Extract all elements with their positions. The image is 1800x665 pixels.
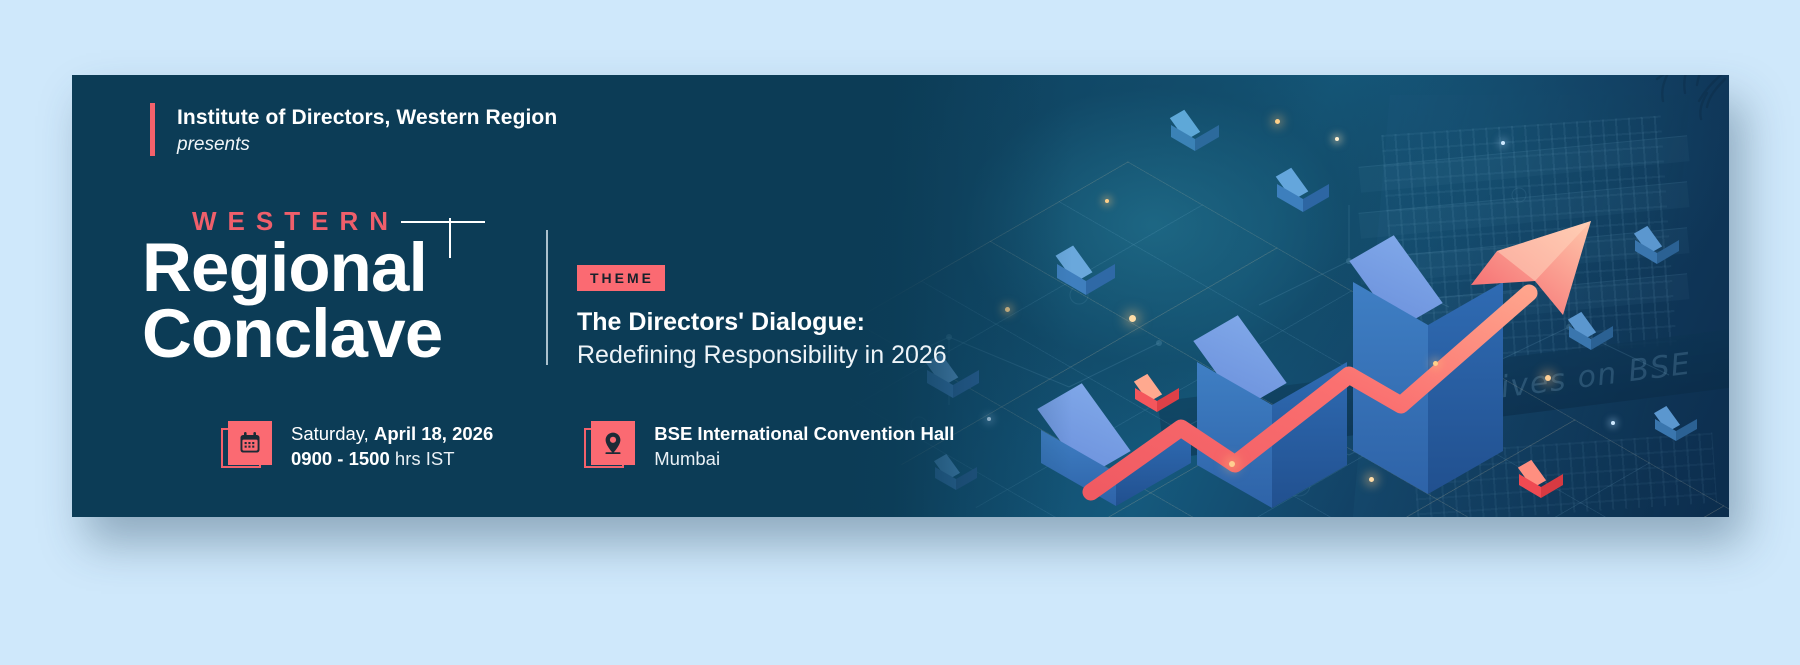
time-line: 0900 - 1500 hrs IST — [291, 448, 493, 470]
theme-badge: THEME — [577, 265, 665, 291]
calendar-glyph — [237, 430, 263, 456]
presents-label: presents — [177, 134, 557, 156]
banner-content: Institute of Directors, Western Region p… — [72, 75, 1032, 517]
date-detail: Saturday, April 18, 2026 0900 - 1500 hrs… — [228, 421, 493, 470]
time-zone: hrs IST — [390, 448, 455, 469]
organization-name: Institute of Directors, Western Region — [177, 106, 557, 130]
event-banner: erivatives on BSE — [72, 75, 1729, 517]
location-pin-glyph — [600, 430, 626, 456]
calendar-icon-box — [228, 421, 272, 465]
time-value: 0900 - 1500 — [291, 448, 390, 469]
theme-title: The Directors' Dialogue: — [577, 308, 947, 337]
venue-city: Mumbai — [654, 448, 954, 470]
theme-divider — [546, 230, 548, 365]
theme-block: THEME The Directors' Dialogue: Redefinin… — [577, 265, 947, 370]
date-weekday: Saturday, — [291, 423, 374, 444]
theme-subtitle: Redefining Responsibility in 2026 — [577, 341, 947, 370]
calendar-icon — [228, 421, 274, 467]
presenter-block: Institute of Directors, Western Region p… — [150, 103, 557, 156]
presenter-accent-bar — [150, 103, 155, 156]
location-pin-icon — [591, 421, 637, 467]
date-value: April 18, 2026 — [374, 423, 493, 444]
venue-detail: BSE International Convention Hall Mumbai — [591, 421, 954, 470]
event-details: Saturday, April 18, 2026 0900 - 1500 hrs… — [228, 421, 954, 470]
title-line-2: Conclave — [142, 301, 562, 367]
venue-name: BSE International Convention Hall — [654, 423, 954, 445]
date-line: Saturday, April 18, 2026 — [291, 423, 493, 445]
bracket-horizontal-line — [401, 221, 485, 223]
location-icon-box — [591, 421, 635, 465]
page-title: Regional Conclave — [142, 235, 562, 367]
